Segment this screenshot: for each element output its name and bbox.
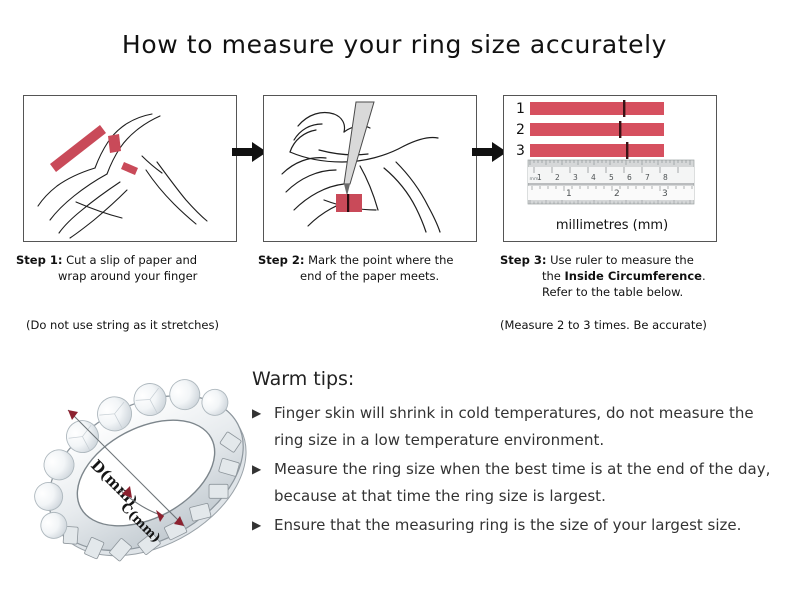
ruler: 1 2 3 4 5 6 7 8 mm 1 2	[528, 160, 694, 204]
ruler-measurement-drawing: 1 2 3	[504, 96, 716, 241]
step1-caption: Step 1: Cut a slip of paper and wrap aro…	[16, 252, 256, 284]
step1-note: (Do not use string as it stretches)	[26, 318, 219, 332]
step3-line1: Use ruler to measure the	[546, 253, 693, 267]
warm-tips-heading: Warm tips:	[252, 368, 354, 390]
ring-body	[32, 358, 260, 588]
mm-tick-5: 5	[609, 173, 614, 182]
step3-line2: the Inside Circumference.	[500, 268, 760, 284]
mm-tick-6: 6	[627, 173, 632, 182]
ruler-unit-caption: millimetres (mm)	[556, 218, 668, 233]
step3-caption: Step 3: Use ruler to measure the the Ins…	[500, 252, 760, 300]
step1-line1: Cut a slip of paper and	[62, 253, 197, 267]
strip-label-3: 3	[516, 143, 525, 159]
tip-item-2: ▶ Measure the ring size when the best ti…	[252, 456, 772, 510]
tip-text-3: Ensure that the measuring ring is the si…	[274, 516, 741, 534]
bullet-icon-1: ▶	[252, 400, 261, 427]
step1-label: Step 1:	[16, 253, 62, 267]
hand-with-paper-slip-drawing	[24, 96, 236, 241]
mm-tick-7: 7	[645, 173, 650, 182]
hands-marking-paper-drawing	[264, 96, 476, 241]
tip-text-2: Measure the ring size when the best time…	[274, 460, 770, 505]
mm-tick-4: 4	[591, 173, 596, 182]
mm-tick-8: 8	[663, 173, 668, 182]
cm-tick-2: 2	[614, 189, 620, 199]
strip-mark-1	[623, 100, 625, 117]
cm-tick-3: 3	[662, 189, 668, 199]
mm-tick-2: 2	[555, 173, 560, 182]
paper-strip-2	[530, 123, 664, 136]
step3-note: (Measure 2 to 3 times. Be accurate)	[500, 318, 707, 332]
step2-line1: Mark the point where the	[304, 253, 453, 267]
step2-label: Step 2:	[258, 253, 304, 267]
cm-tick-1: 1	[566, 189, 572, 199]
step3-line2-post: .	[702, 269, 706, 283]
ring-diagram: D(mm) C(mm)	[32, 358, 260, 588]
bullet-icon-3: ▶	[252, 512, 261, 539]
step3-line2-emphasis: Inside Circumference	[565, 269, 702, 283]
step3-illustration-panel: 1 2 3	[503, 95, 717, 242]
ring-size-guide: How to measure your ring size accurately	[0, 0, 789, 606]
tip-item-1: ▶ Finger skin will shrink in cold temper…	[252, 400, 772, 454]
mm-tick-3: 3	[573, 173, 578, 182]
strip-label-1: 1	[516, 101, 525, 117]
strip-label-2: 2	[516, 122, 525, 138]
paper-slip-marked	[336, 194, 362, 212]
step2-illustration-panel	[263, 95, 477, 242]
step3-label: Step 3:	[500, 253, 546, 267]
step2-caption: Step 2: Mark the point where the end of …	[258, 252, 498, 284]
strip-mark-3	[626, 142, 628, 159]
step3-line2-pre: the	[542, 269, 565, 283]
step1-line2: wrap around your finger	[16, 268, 256, 284]
step2-line2: end of the paper meets.	[258, 268, 498, 284]
ruler-brand-text: mm	[530, 177, 539, 182]
paper-strip-1	[530, 102, 664, 115]
warm-tips-list: ▶ Finger skin will shrink in cold temper…	[252, 400, 772, 541]
bullet-icon-2: ▶	[252, 456, 261, 483]
tip-text-1: Finger skin will shrink in cold temperat…	[274, 404, 754, 449]
step3-line3: Refer to the table below.	[500, 284, 760, 300]
tip-item-3: ▶ Ensure that the measuring ring is the …	[252, 512, 772, 539]
page-title: How to measure your ring size accurately	[0, 30, 789, 59]
step1-illustration-panel	[23, 95, 237, 242]
strip-mark-2	[619, 121, 621, 138]
paper-strip-3	[530, 144, 664, 157]
